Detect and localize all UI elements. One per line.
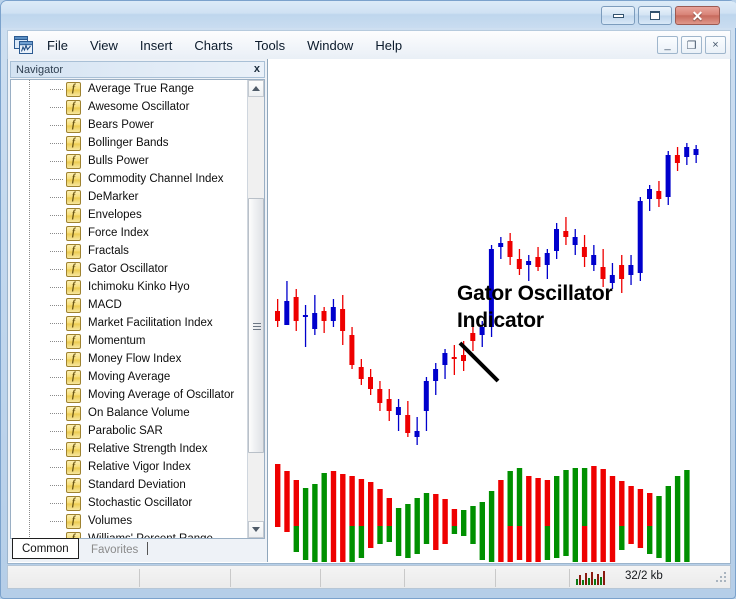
candle-body [405, 415, 410, 433]
gator-lower-bar [582, 526, 587, 562]
gator-upper-bar [508, 471, 513, 526]
status-separator [404, 569, 405, 587]
indicator-item-bulls-power[interactable]: fBulls Power [11, 152, 247, 170]
navigator-tabs: Common Favorites [10, 538, 265, 560]
gator-lower-bar [489, 526, 494, 562]
candle-body [498, 243, 503, 247]
gator-upper-bar [535, 478, 540, 526]
client-area: Navigator x fAverage True RangefAwesome … [7, 59, 731, 564]
indicator-item-label: Moving Average of Oscillator [88, 389, 234, 401]
indicator-item-momentum[interactable]: fMomentum [11, 332, 247, 350]
function-icon: f [66, 316, 81, 331]
function-icon: f [66, 388, 81, 403]
indicator-tree[interactable]: fAverage True RangefAwesome OscillatorfB… [11, 80, 247, 538]
tree-guide-line [29, 368, 30, 386]
navigator-scrollbar[interactable] [247, 80, 264, 538]
candle-body [303, 315, 308, 317]
annotation-line-1: Gator Oscillator [457, 281, 697, 308]
tree-guide-line [29, 224, 30, 242]
gator-lower-bar [591, 526, 596, 562]
gator-lower-bar [470, 526, 475, 544]
candle-body [415, 431, 420, 437]
gator-lower-bar [396, 526, 401, 556]
traffic-bar [582, 580, 584, 585]
gator-lower-bar [312, 526, 317, 562]
candle-body [517, 259, 522, 269]
chart-area[interactable]: Gator Oscillator Indicator [267, 59, 730, 562]
traffic-bar [576, 579, 578, 585]
function-icon: f [66, 262, 81, 277]
gator-upper-bar [303, 488, 308, 526]
indicator-item-label: Envelopes [88, 209, 142, 221]
scroll-up-arrow-icon[interactable] [248, 80, 264, 97]
function-icon: f [66, 370, 81, 385]
tree-guide-line [29, 404, 30, 422]
status-separator [320, 569, 321, 587]
gator-lower-bar [675, 526, 680, 562]
navigator-close-icon[interactable]: x [254, 63, 260, 75]
function-icon: f [66, 100, 81, 115]
gator-lower-bar [526, 526, 531, 562]
indicator-item-bears-power[interactable]: fBears Power [11, 116, 247, 134]
traffic-bar [594, 579, 596, 585]
tree-elbow-line [50, 233, 64, 234]
candle-body [284, 301, 289, 325]
tree-elbow-line [50, 395, 64, 396]
tree-guide-line [29, 296, 30, 314]
indicator-item-commodity-channel-index[interactable]: fCommodity Channel Index [11, 170, 247, 188]
function-icon: f [66, 352, 81, 367]
candle-body [396, 407, 401, 415]
tree-guide-line [29, 98, 30, 116]
candle-body [545, 253, 550, 265]
candle-body [573, 237, 578, 245]
indicator-item-market-facilitation-index[interactable]: fMarket Facilitation Index [11, 314, 247, 332]
mdi-restore-button[interactable]: ❐ [681, 36, 702, 54]
gator-upper-bar [517, 468, 522, 526]
tree-elbow-line [50, 323, 64, 324]
triangle-down-icon [252, 527, 260, 532]
status-separator [569, 569, 570, 587]
candle-body [666, 155, 671, 197]
function-icon: f [66, 424, 81, 439]
traffic-bar [579, 575, 581, 585]
gator-upper-bar [554, 476, 559, 526]
candle-body [628, 265, 633, 275]
gator-upper-bar [526, 476, 531, 526]
candle-body [619, 265, 624, 279]
tree-guide-line [29, 170, 30, 188]
candle-body [424, 381, 429, 411]
tree-elbow-line [50, 359, 64, 360]
tree-guide-line [29, 152, 30, 170]
indicator-item-label: Bears Power [88, 119, 154, 131]
navigator-header: Navigator x [10, 61, 265, 78]
gator-upper-bar [405, 504, 410, 526]
menu-bar: File View Insert Charts Tools Window Hel… [7, 30, 731, 59]
gator-upper-bar [331, 471, 336, 526]
gator-upper-bar [340, 474, 345, 526]
function-icon: f [66, 334, 81, 349]
function-icon: f [66, 82, 81, 97]
tab-favorites[interactable]: Favorites [82, 540, 147, 559]
chart-annotation-text: Gator Oscillator Indicator [457, 281, 697, 335]
indicator-item-standard-deviation[interactable]: fStandard Deviation [11, 476, 247, 494]
grip-line [253, 326, 261, 327]
gator-upper-bar [628, 486, 633, 526]
gator-lower-bar [415, 526, 420, 554]
tree-guide-line [29, 206, 30, 224]
tree-guide-line [29, 422, 30, 440]
tree-guide-line [29, 512, 30, 530]
gator-lower-bar [554, 526, 559, 558]
indicator-item-label: Relative Strength Index [88, 443, 208, 455]
menu-insert[interactable]: Insert [131, 35, 182, 56]
candle-wick [528, 255, 529, 281]
tree-elbow-line [50, 179, 64, 180]
window-maximize-button[interactable] [638, 6, 672, 25]
tree-elbow-line [50, 341, 64, 342]
function-icon: f [66, 190, 81, 205]
indicator-item-label: Money Flow Index [88, 353, 181, 365]
menu-window[interactable]: Window [298, 35, 362, 56]
indicator-item-on-balance-volume[interactable]: fOn Balance Volume [11, 404, 247, 422]
gator-lower-bar [638, 526, 643, 548]
indicator-item-fractals[interactable]: fFractals [11, 242, 247, 260]
gator-lower-bar [610, 526, 615, 562]
function-icon: f [66, 208, 81, 223]
gator-upper-bar [684, 470, 689, 526]
menu-charts[interactable]: Charts [185, 35, 241, 56]
function-icon: f [66, 118, 81, 133]
tree-elbow-line [50, 413, 64, 414]
gator-lower-bar [368, 526, 373, 548]
indicator-item-average-true-range[interactable]: fAverage True Range [11, 80, 247, 98]
indicator-item-force-index[interactable]: fForce Index [11, 224, 247, 242]
gator-lower-bar [656, 526, 661, 558]
indicator-item-label: Bollinger Bands [88, 137, 169, 149]
tree-guide-line [29, 260, 30, 278]
gator-lower-bar [684, 526, 689, 562]
navigator-body: fAverage True RangefAwesome OscillatorfB… [10, 79, 265, 539]
window-titlebar: ✕ [1, 1, 736, 28]
candle-body [694, 149, 699, 155]
minimize-icon [613, 14, 624, 18]
gator-upper-bar [666, 486, 671, 526]
candle-body [508, 241, 513, 257]
gator-lower-bar [433, 526, 438, 550]
metatrader-logo-icon [14, 36, 34, 55]
indicator-item-label: Parabolic SAR [88, 425, 163, 437]
traffic-bar [585, 573, 587, 585]
candle-body [349, 335, 354, 365]
indicator-item-bollinger-bands[interactable]: fBollinger Bands [11, 134, 247, 152]
indicator-item-label: Ichimoku Kinko Hyo [88, 281, 190, 293]
scrollbar-thumb[interactable] [248, 198, 264, 453]
gator-lower-bar [508, 526, 513, 562]
gator-upper-bar [573, 468, 578, 526]
indicator-item-awesome-oscillator[interactable]: fAwesome Oscillator [11, 98, 247, 116]
gator-lower-bar [377, 526, 382, 544]
candle-body [359, 367, 364, 379]
candle-body [591, 255, 596, 265]
tree-elbow-line [50, 269, 64, 270]
function-icon: f [66, 172, 81, 187]
tree-elbow-line [50, 89, 64, 90]
candle-wick [500, 237, 501, 259]
candle-body [368, 377, 373, 389]
tree-elbow-line [50, 485, 64, 486]
triangle-up-icon [252, 86, 260, 91]
candle-body [340, 309, 345, 331]
candle-body [554, 229, 559, 251]
candle-body [684, 147, 689, 157]
tree-guide-line [29, 332, 30, 350]
indicator-item-label: Relative Vigor Index [88, 461, 191, 473]
grip-line [253, 329, 261, 330]
function-icon: f [66, 136, 81, 151]
function-icon: f [66, 406, 81, 421]
gator-lower-bar [424, 526, 429, 544]
status-bar: 32/2 kb [7, 565, 731, 589]
network-traffic-icon [576, 571, 606, 585]
indicator-item-gator-oscillator[interactable]: fGator Oscillator [11, 260, 247, 278]
gator-upper-bar [387, 498, 392, 526]
gator-lower-bar [461, 526, 466, 536]
gator-upper-bar [675, 476, 680, 526]
gator-lower-bar [294, 526, 299, 552]
indicator-item-label: Average True Range [88, 83, 194, 95]
function-icon: f [66, 244, 81, 259]
tree-elbow-line [50, 521, 64, 522]
tab-common[interactable]: Common [12, 538, 79, 559]
indicator-item-label: Momentum [88, 335, 146, 347]
indicator-item-volumes[interactable]: fVolumes [11, 512, 247, 530]
gator-upper-bar [442, 499, 447, 526]
indicator-item-label: MACD [88, 299, 122, 311]
indicator-item-williams-percent-range[interactable]: fWilliams' Percent Range [11, 530, 247, 538]
traffic-bar [603, 571, 605, 585]
navigator-panel: Navigator x fAverage True RangefAwesome … [8, 59, 267, 562]
function-icon: f [66, 460, 81, 475]
gator-upper-bar [610, 476, 615, 526]
menu-help[interactable]: Help [366, 35, 411, 56]
gator-upper-bar [470, 506, 475, 526]
gator-lower-bar [442, 526, 447, 544]
traffic-bar [591, 572, 593, 585]
tree-guide-line [29, 386, 30, 404]
tree-guide-line [29, 134, 30, 152]
candle-body [387, 399, 392, 411]
gator-lower-bar [535, 526, 540, 562]
gator-upper-bar [424, 493, 429, 526]
tree-guide-line [29, 242, 30, 260]
indicator-item-label: Market Facilitation Index [88, 317, 213, 329]
candle-body [452, 357, 457, 359]
indicator-item-label: Commodity Channel Index [88, 173, 224, 185]
network-traffic-label: 32/2 kb [625, 570, 663, 582]
gator-upper-bar [284, 471, 289, 526]
gator-upper-bar [368, 482, 373, 526]
candle-body [312, 313, 317, 329]
gator-lower-bar [284, 526, 289, 532]
gator-upper-bar [582, 468, 587, 526]
gator-upper-bar [489, 491, 494, 526]
gator-upper-bar [396, 508, 401, 526]
gator-lower-bar [452, 526, 457, 534]
mdi-minimize-button[interactable]: _ [657, 36, 678, 54]
gator-lower-bar [387, 526, 392, 542]
menu-tools[interactable]: Tools [246, 35, 294, 56]
traffic-bar [600, 577, 602, 585]
candle-body [442, 353, 447, 365]
gator-upper-bar [638, 489, 643, 526]
indicator-item-label: Fractals [88, 245, 129, 257]
function-icon: f [66, 442, 81, 457]
indicator-item-moving-average-of-oscillator[interactable]: fMoving Average of Oscillator [11, 386, 247, 404]
gator-upper-bar [294, 480, 299, 526]
indicator-item-relative-strength-index[interactable]: fRelative Strength Index [11, 440, 247, 458]
candle-body [582, 247, 587, 257]
indicator-item-label: Volumes [88, 515, 132, 527]
tree-guide-line [29, 314, 30, 332]
tree-elbow-line [50, 107, 64, 108]
function-icon: f [66, 226, 81, 241]
tree-guide-line [29, 278, 30, 296]
gator-lower-bar [498, 526, 503, 562]
indicator-item-label: Stochastic Oscillator [88, 497, 192, 509]
grip-line [253, 323, 261, 324]
indicator-item-demarker[interactable]: fDeMarker [11, 188, 247, 206]
indicator-item-label: Awesome Oscillator [88, 101, 189, 113]
candle-body [638, 201, 643, 273]
function-icon: f [66, 298, 81, 313]
tree-elbow-line [50, 287, 64, 288]
indicator-item-label: DeMarker [88, 191, 138, 203]
gator-upper-bar [322, 473, 327, 526]
tree-guide-line [29, 116, 30, 134]
maximize-icon [650, 11, 660, 20]
gator-lower-bar [573, 526, 578, 562]
gator-lower-bar [563, 526, 568, 556]
gator-lower-bar [340, 526, 345, 562]
gator-upper-bar [647, 493, 652, 526]
gator-lower-bar [666, 526, 671, 562]
gator-upper-bar [452, 509, 457, 526]
tree-elbow-line [50, 431, 64, 432]
function-icon: f [66, 478, 81, 493]
candle-wick [454, 345, 455, 375]
gator-lower-bar [349, 526, 354, 562]
tree-guide-line [29, 80, 30, 98]
gator-lower-bar [359, 526, 364, 558]
application-window: ✕ File View Insert Charts Tools Window H… [0, 0, 736, 599]
indicator-item-label: Force Index [88, 227, 149, 239]
candle-body [656, 191, 661, 199]
traffic-bar [597, 574, 599, 585]
indicator-item-parabolic-sar[interactable]: fParabolic SAR [11, 422, 247, 440]
menu-view[interactable]: View [81, 35, 127, 56]
function-icon: f [66, 154, 81, 169]
gator-upper-bar [480, 502, 485, 526]
candle-body [433, 369, 438, 381]
scroll-down-arrow-icon[interactable] [248, 521, 264, 538]
tree-elbow-line [50, 449, 64, 450]
indicator-item-envelopes[interactable]: fEnvelopes [11, 206, 247, 224]
window-minimize-button[interactable] [601, 6, 635, 25]
gator-lower-bar [647, 526, 652, 554]
gator-upper-bar [601, 469, 606, 526]
indicator-item-label: Standard Deviation [88, 479, 186, 491]
gator-upper-bar [498, 480, 503, 526]
tree-guide-line [29, 458, 30, 476]
gator-upper-bar [619, 481, 624, 526]
indicator-item-macd[interactable]: fMACD [11, 296, 247, 314]
gator-lower-bar [545, 526, 550, 560]
traffic-bar [588, 578, 590, 585]
indicator-item-label: Gator Oscillator [88, 263, 168, 275]
resize-grip-icon[interactable] [714, 572, 728, 586]
tree-elbow-line [50, 143, 64, 144]
gator-upper-bar [359, 479, 364, 526]
gator-lower-bar [275, 526, 280, 527]
indicator-item-label: Bulls Power [88, 155, 149, 167]
gator-lower-bar [303, 526, 308, 560]
gator-lower-bar [322, 526, 327, 562]
indicator-item-moving-average[interactable]: fMoving Average [11, 368, 247, 386]
tab-caret [147, 542, 148, 555]
status-separator [139, 569, 140, 587]
tree-elbow-line [50, 467, 64, 468]
navigator-title: Navigator [16, 64, 63, 76]
tree-elbow-line [50, 305, 64, 306]
indicator-item-ichimoku-kinko-hyo[interactable]: fIchimoku Kinko Hyo [11, 278, 247, 296]
tree-guide-line [29, 440, 30, 458]
candle-body [647, 189, 652, 199]
candle-body [526, 261, 531, 265]
candle-wick [305, 305, 306, 347]
gator-upper-bar [545, 480, 550, 526]
gator-lower-bar [405, 526, 410, 558]
mdi-window-controls: _ ❐ × [657, 36, 726, 54]
window-close-button[interactable]: ✕ [675, 6, 720, 25]
close-icon: ✕ [692, 9, 704, 23]
candle-body [535, 257, 540, 267]
tree-guide-line [29, 494, 30, 512]
gator-upper-bar [275, 464, 280, 526]
indicator-item-label: Moving Average [88, 371, 170, 383]
tree-guide-line [29, 476, 30, 494]
gator-lower-bar [331, 526, 336, 562]
indicator-item-label: On Balance Volume [88, 407, 190, 419]
function-icon: f [66, 496, 81, 511]
gator-upper-bar [433, 494, 438, 526]
tree-elbow-line [50, 161, 64, 162]
status-separator [495, 569, 496, 587]
function-icon: f [66, 280, 81, 295]
indicator-item-money-flow-index[interactable]: fMoney Flow Index [11, 350, 247, 368]
gator-lower-bar [480, 526, 485, 560]
menu-file[interactable]: File [38, 35, 77, 56]
mdi-close-button[interactable]: × [705, 36, 726, 54]
annotation-line-2: Indicator [457, 308, 697, 335]
candle-body [377, 389, 382, 403]
indicator-item-stochastic-oscillator[interactable]: fStochastic Oscillator [11, 494, 247, 512]
tree-elbow-line [50, 251, 64, 252]
candle-body [675, 155, 680, 163]
gator-upper-bar [415, 498, 420, 526]
indicator-item-relative-vigor-index[interactable]: fRelative Vigor Index [11, 458, 247, 476]
